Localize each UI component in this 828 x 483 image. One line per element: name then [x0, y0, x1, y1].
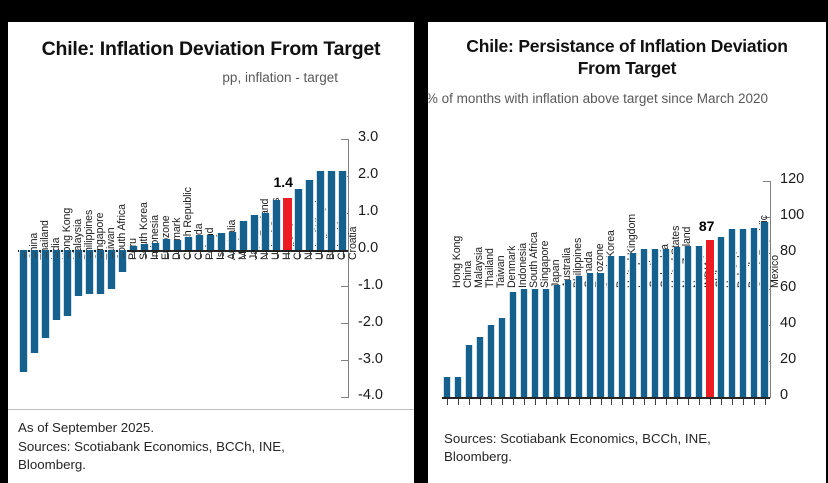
bar-malaysia — [465, 345, 473, 397]
x-axis-tick — [458, 399, 459, 405]
axis-note-left: pp, inflation - target — [222, 69, 338, 87]
y-axis-tick-label: 60 — [780, 279, 796, 295]
x-axis-tick — [579, 399, 580, 405]
bar-eurozone — [586, 273, 594, 397]
x-axis-tick — [732, 399, 733, 405]
bar-japan — [239, 221, 247, 250]
bar-hungary — [272, 200, 280, 250]
bar-south-korea — [129, 246, 137, 250]
bar-hong-kong — [52, 250, 60, 320]
data-label-highlight-left: 1.4 — [274, 174, 293, 190]
x-axis-tick — [321, 252, 322, 258]
bar-hungary — [717, 237, 725, 397]
y-axis-tick-label: -4.0 — [358, 387, 383, 403]
x-axis-tick — [266, 252, 267, 258]
x-axis-tick — [310, 252, 311, 258]
x-axis-tick — [655, 399, 656, 405]
bar-malaysia — [63, 250, 71, 316]
bar-australia — [553, 285, 561, 397]
x-axis-category-label: South Korea — [138, 203, 150, 261]
y-axis-tick-label: 20 — [780, 351, 796, 367]
bar-south-africa — [520, 289, 528, 397]
x-axis-tick — [79, 252, 80, 258]
x-axis-tick — [288, 252, 289, 258]
x-axis-tick — [480, 399, 481, 405]
bar-croatia — [338, 171, 346, 250]
y-axis-tick-label: 1.0 — [358, 203, 378, 219]
x-axis-tick — [557, 399, 558, 405]
page-title-right: Chile: Persistance of Inflation Deviatio… — [428, 22, 826, 80]
x-axis-tick — [200, 252, 201, 258]
y-axis-tick-label: 120 — [780, 171, 804, 187]
chart-panel-inflation-deviation: Chile: Inflation Deviation From Target p… — [8, 22, 414, 483]
plot-area-right: % of months with inflation above target … — [428, 80, 826, 425]
page-title-left: Chile: Inflation Deviation From Target — [8, 22, 414, 60]
x-axis-tick — [112, 252, 113, 258]
x-axis-tick — [189, 252, 190, 258]
bar-israel — [206, 235, 214, 250]
x-axis-tick — [24, 252, 25, 258]
x-axis-tick — [134, 252, 135, 258]
x-axis-tick — [178, 252, 179, 258]
divider-left — [8, 409, 414, 410]
x-axis-tick — [633, 399, 634, 405]
y-axis-tick — [341, 139, 349, 140]
bar-norway — [294, 189, 302, 250]
data-label-highlight-right: 87 — [699, 218, 715, 234]
x-axis-tick — [167, 252, 168, 258]
x-axis-tick — [754, 399, 755, 405]
x-axis-tick — [469, 399, 470, 405]
bar-eurozone — [151, 243, 159, 250]
bar-brazil — [739, 229, 747, 396]
figure-pair: Chile: Inflation Deviation From Target p… — [0, 0, 828, 483]
bar-indonesia — [509, 292, 517, 396]
y-axis-tick — [763, 181, 771, 182]
bar-new-zealand — [673, 247, 681, 396]
bar-philippines — [564, 280, 572, 397]
x-axis-tick — [46, 252, 47, 258]
x-axis-tick — [590, 399, 591, 405]
bar-australia — [217, 233, 225, 250]
x-axis-tick — [535, 399, 536, 405]
x-axis-tick — [513, 399, 514, 405]
y-axis-tick-label: 100 — [780, 207, 804, 223]
x-axis-tick — [332, 252, 333, 258]
x-axis-tick — [244, 252, 245, 258]
x-axis-category-label: Mexico — [769, 255, 781, 288]
bar-indonesia — [140, 244, 148, 250]
x-axis-tick — [222, 252, 223, 258]
x-axis-tick — [765, 399, 766, 405]
x-axis-tick — [721, 399, 722, 405]
y-axis-tick-label: 2.0 — [358, 166, 378, 182]
y-axis-tick — [341, 360, 349, 361]
x-axis-tick — [546, 399, 547, 405]
x-axis-tick — [491, 399, 492, 405]
source-note-right: Sources: Scotiabank Economics, BCCh, INE… — [444, 430, 711, 467]
y-axis-tick-label: 80 — [780, 243, 796, 259]
bar-hong-kong — [443, 377, 451, 397]
x-axis-tick — [688, 399, 689, 405]
bar-mexico — [228, 232, 236, 250]
y-axis-tick-label: 3.0 — [358, 129, 378, 145]
y-axis-tick-label: 0.0 — [358, 240, 378, 256]
source-note-left: As of September 2025. Sources: Scotiaban… — [18, 419, 285, 475]
bar-india — [695, 246, 703, 397]
x-axis-tick — [568, 399, 569, 405]
bar-thailand — [476, 337, 484, 396]
chart-panel-persistence: Chile: Persistance of Inflation Deviatio… — [428, 22, 826, 483]
bar-new-zealand — [250, 215, 258, 250]
bar-poland — [728, 229, 736, 396]
x-axis-tick — [622, 399, 623, 405]
y-axis-line — [348, 139, 349, 397]
bar-brazil — [316, 171, 324, 250]
x-axis-tick — [524, 399, 525, 405]
bar-colombia — [651, 249, 659, 397]
bar-chile — [706, 240, 714, 397]
y-axis-tick — [341, 286, 349, 287]
x-axis-tick — [233, 252, 234, 258]
bar-south-korea — [596, 273, 604, 397]
bar-taiwan — [487, 325, 495, 397]
bar-united-kingdom — [305, 180, 313, 250]
x-axis-tick — [90, 252, 91, 258]
bar-canada — [575, 276, 583, 397]
bar-thailand — [30, 250, 38, 353]
axis-note-right: % of months with inflation above target … — [428, 90, 768, 108]
y-axis-tick-label: -3.0 — [358, 351, 383, 367]
y-axis-tick-label: 40 — [780, 315, 796, 331]
bar-china — [19, 250, 27, 372]
x-axis-category-label: Indonesia — [149, 215, 161, 260]
bar-mexico — [760, 222, 768, 397]
bar-united-states — [662, 249, 670, 397]
x-axis-tick — [35, 252, 36, 258]
x-axis-tick — [502, 399, 503, 405]
bar-united-states — [261, 213, 269, 250]
x-axis-tick — [743, 399, 744, 405]
x-axis-tick — [343, 252, 344, 258]
plot-area-left: pp, inflation - target 1.4 3.02.01.00.0-… — [8, 60, 414, 400]
x-axis-tick — [68, 252, 69, 258]
x-axis-tick — [699, 399, 700, 405]
bar-japan — [542, 289, 550, 397]
bar-chile — [283, 198, 291, 250]
x-axis-tick — [123, 252, 124, 258]
x-axis-category-label: Croatia — [347, 227, 359, 260]
x-axis-tick — [156, 252, 157, 258]
x-axis-tick — [145, 252, 146, 258]
bar-poland — [195, 235, 203, 250]
bar-canada — [184, 237, 192, 250]
x-axis-tick — [299, 252, 300, 258]
y-axis-tick-label: 0 — [780, 387, 788, 403]
bar-norway — [684, 246, 692, 397]
bar-china — [454, 377, 462, 397]
x-axis-tick — [255, 252, 256, 258]
y-axis-tick — [341, 397, 349, 398]
y-axis-tick-label: -1.0 — [358, 277, 383, 293]
x-axis-tick — [211, 252, 212, 258]
bar-india — [41, 250, 49, 338]
x-axis-tick — [677, 399, 678, 405]
x-axis-tick — [710, 399, 711, 405]
bar-colombia — [327, 171, 335, 250]
x-axis-tick — [601, 399, 602, 405]
y-axis-tick-label: -2.0 — [358, 314, 383, 330]
x-axis-tick — [277, 252, 278, 258]
x-axis-tick — [644, 399, 645, 405]
bar-singapore — [531, 289, 539, 397]
bar-czech-republic — [750, 228, 758, 397]
x-axis-tick — [101, 252, 102, 258]
x-axis-tick — [447, 399, 448, 405]
x-axis-tick — [611, 399, 612, 405]
bar-czech-republic — [173, 240, 181, 250]
bar-denmark — [162, 239, 170, 250]
x-axis-tick — [57, 252, 58, 258]
y-axis-tick — [341, 323, 349, 324]
bar-denmark — [498, 318, 506, 397]
x-axis-tick — [666, 399, 667, 405]
